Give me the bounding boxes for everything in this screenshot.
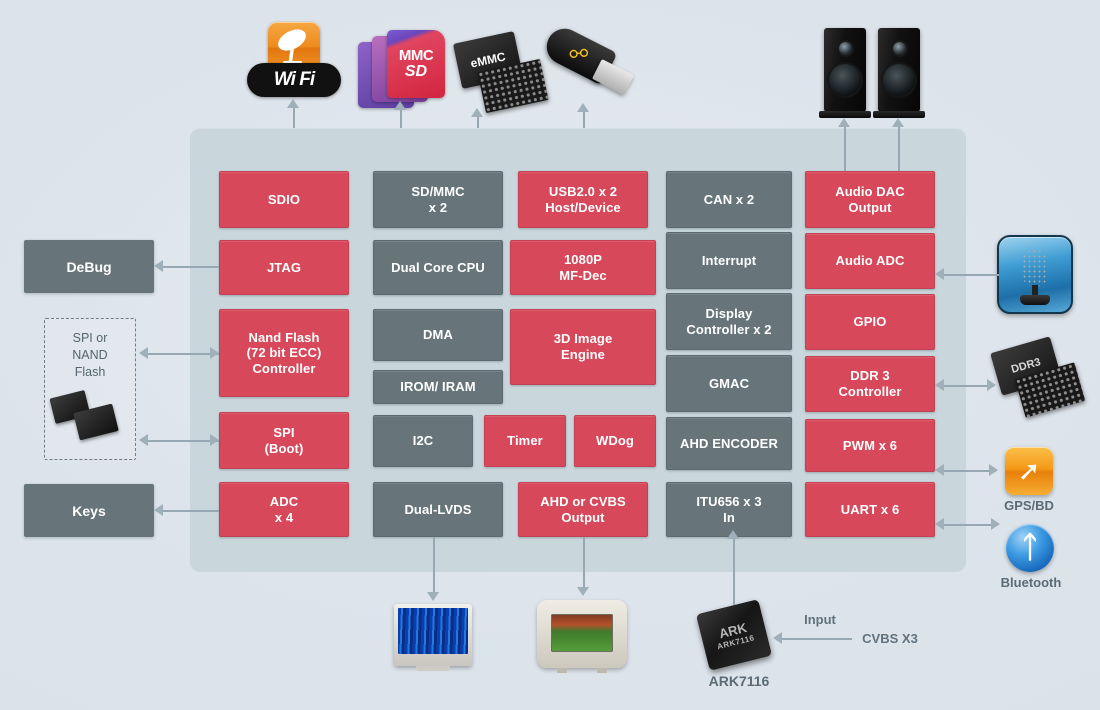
- line-debug-jtag: [163, 266, 219, 268]
- line-ark-itu656: [733, 537, 735, 605]
- speaker-stand-icon: [873, 111, 925, 118]
- arrow-audio-adc: [935, 268, 944, 280]
- line-lvds-lcd: [433, 537, 435, 592]
- ark-chip-marking: ARK ARK7116: [696, 599, 772, 671]
- bluetooth-icon: ᛏ: [1006, 524, 1054, 572]
- arrow-emmc: [471, 108, 483, 117]
- block-adc[interactable]: ADC x 4: [219, 482, 349, 537]
- peripheral-spi-nand-flash-label: SPI or NAND Flash: [46, 330, 134, 381]
- line-nand: [148, 353, 219, 355]
- car-monitor-foot-right: [597, 668, 607, 673]
- car-monitor-screen-icon: [551, 614, 613, 652]
- speaker-tweeter-icon: [893, 42, 906, 55]
- arrow-keys: [154, 504, 163, 516]
- arrow-cvbs-input: [773, 632, 782, 644]
- speaker-woofer-icon: [829, 64, 861, 96]
- lcd-monitor-icon: [394, 604, 472, 666]
- lcd-stand-icon: [416, 666, 450, 671]
- arrow-bluetooth-left: [935, 518, 944, 530]
- block-jtag[interactable]: JTAG: [219, 240, 349, 295]
- car-monitor-icon: [537, 600, 627, 668]
- arrow-car-monitor: [577, 587, 589, 596]
- block-timer[interactable]: Timer: [484, 415, 566, 467]
- ark7116-chip-icon: ARK ARK7116: [696, 599, 772, 671]
- speaker-icon-left: [824, 28, 866, 112]
- arrow-lcd: [427, 592, 439, 601]
- peripheral-ark7116-label: ARK7116: [693, 673, 785, 689]
- sd-card-icon-front: MMC SD: [387, 30, 445, 98]
- block-gpio[interactable]: GPIO: [805, 294, 935, 350]
- speaker-icon-right: [878, 28, 920, 112]
- block-ddr3-controller[interactable]: DDR 3 Controller: [805, 356, 935, 412]
- block-sd-mmc[interactable]: SD/MMC x 2: [373, 171, 503, 228]
- arrow-nand-right: [210, 347, 219, 359]
- microphone-head-icon: [1022, 249, 1048, 287]
- arrow-usb: [577, 103, 589, 112]
- line-wifi-sdio: [293, 106, 295, 128]
- arrow-gps-left: [935, 464, 944, 476]
- block-irom-iram[interactable]: IROM/ IRAM: [373, 370, 503, 404]
- microphone-icon: [997, 235, 1073, 314]
- line-ahd-cvbs-car: [583, 537, 585, 587]
- line-sd-block: [400, 108, 402, 128]
- microphone-base-icon: [1020, 295, 1050, 305]
- block-gmac[interactable]: GMAC: [666, 355, 792, 412]
- arrow-spi-right: [210, 434, 219, 446]
- arrow-ddr3-right: [987, 379, 996, 391]
- arrow-ddr3-left: [935, 379, 944, 391]
- line-spi: [148, 440, 219, 442]
- block-interrupt[interactable]: Interrupt: [666, 232, 792, 289]
- arrow-spi-left: [139, 434, 148, 446]
- block-1080p-mf-dec[interactable]: 1080P MF-Dec: [510, 240, 656, 295]
- car-monitor-foot-left: [557, 668, 567, 673]
- line-mic-audio-adc: [944, 274, 999, 276]
- arrow-wifi: [287, 99, 299, 108]
- speaker-woofer-icon: [883, 64, 915, 96]
- block-pwm[interactable]: PWM x 6: [805, 419, 935, 472]
- arrow-debug: [154, 260, 163, 272]
- block-usb20[interactable]: USB2.0 x 2 Host/Device: [518, 171, 648, 228]
- gps-icon: ➚: [1005, 447, 1053, 495]
- line-speaker-right-dac: [898, 125, 900, 171]
- line-bluetooth-uart: [944, 524, 998, 526]
- block-spi-boot[interactable]: SPI (Boot): [219, 412, 349, 469]
- input-label: Input: [790, 612, 850, 627]
- block-ahd-cvbs-output[interactable]: AHD or CVBS Output: [518, 482, 648, 537]
- block-uart[interactable]: UART x 6: [805, 482, 935, 537]
- block-wdog[interactable]: WDog: [574, 415, 656, 467]
- diagram-stage: SDIO JTAG Nand Flash (72 bit ECC) Contro…: [0, 0, 1100, 710]
- block-itu656[interactable]: ITU656 x 3 In: [666, 482, 792, 537]
- arrow-bluetooth-right: [991, 518, 1000, 530]
- peripheral-debug[interactable]: DeBug: [24, 240, 154, 293]
- block-dual-core-cpu[interactable]: Dual Core CPU: [373, 240, 503, 295]
- line-speaker-left-dac: [844, 125, 846, 171]
- block-3d-image-engine[interactable]: 3D Image Engine: [510, 309, 656, 385]
- lcd-screen-icon: [398, 608, 468, 654]
- speaker-stand-icon: [819, 111, 871, 118]
- block-can[interactable]: CAN x 2: [666, 171, 792, 228]
- peripheral-gps-label: GPS/BD: [989, 498, 1069, 513]
- peripheral-keys[interactable]: Keys: [24, 484, 154, 537]
- wifi-label: Wi Fi: [247, 63, 341, 97]
- arrow-speaker-right: [892, 118, 904, 127]
- block-audio-dac-output[interactable]: Audio DAC Output: [805, 171, 935, 228]
- arrow-sd: [394, 101, 406, 110]
- cvbs-label: CVBS X3: [855, 631, 925, 646]
- block-dual-lvds[interactable]: Dual-LVDS: [373, 482, 503, 537]
- line-keys-adc: [163, 510, 219, 512]
- block-sdio[interactable]: SDIO: [219, 171, 349, 228]
- block-audio-adc[interactable]: Audio ADC: [805, 233, 935, 289]
- usb-connector-icon: [592, 59, 634, 95]
- arrow-itu656: [727, 530, 739, 539]
- bluetooth-glyph-icon: ᛏ: [1006, 524, 1054, 572]
- line-cvbs-input: [782, 638, 852, 640]
- block-display-controller[interactable]: Display Controller x 2: [666, 293, 792, 350]
- peripheral-bluetooth-label: Bluetooth: [986, 575, 1076, 590]
- arrow-speaker-left: [838, 118, 850, 127]
- arrow-nand-left: [139, 347, 148, 359]
- block-i2c[interactable]: I2C: [373, 415, 473, 467]
- block-ahd-encoder[interactable]: AHD ENCODER: [666, 417, 792, 470]
- speaker-tweeter-icon: [839, 42, 852, 55]
- gps-glyph-icon: ➚: [1005, 447, 1053, 495]
- block-dma[interactable]: DMA: [373, 309, 503, 361]
- arrow-gps-right: [989, 464, 998, 476]
- line-usb-block: [583, 110, 585, 128]
- block-nand-flash-controller[interactable]: Nand Flash (72 bit ECC) Controller: [219, 309, 349, 397]
